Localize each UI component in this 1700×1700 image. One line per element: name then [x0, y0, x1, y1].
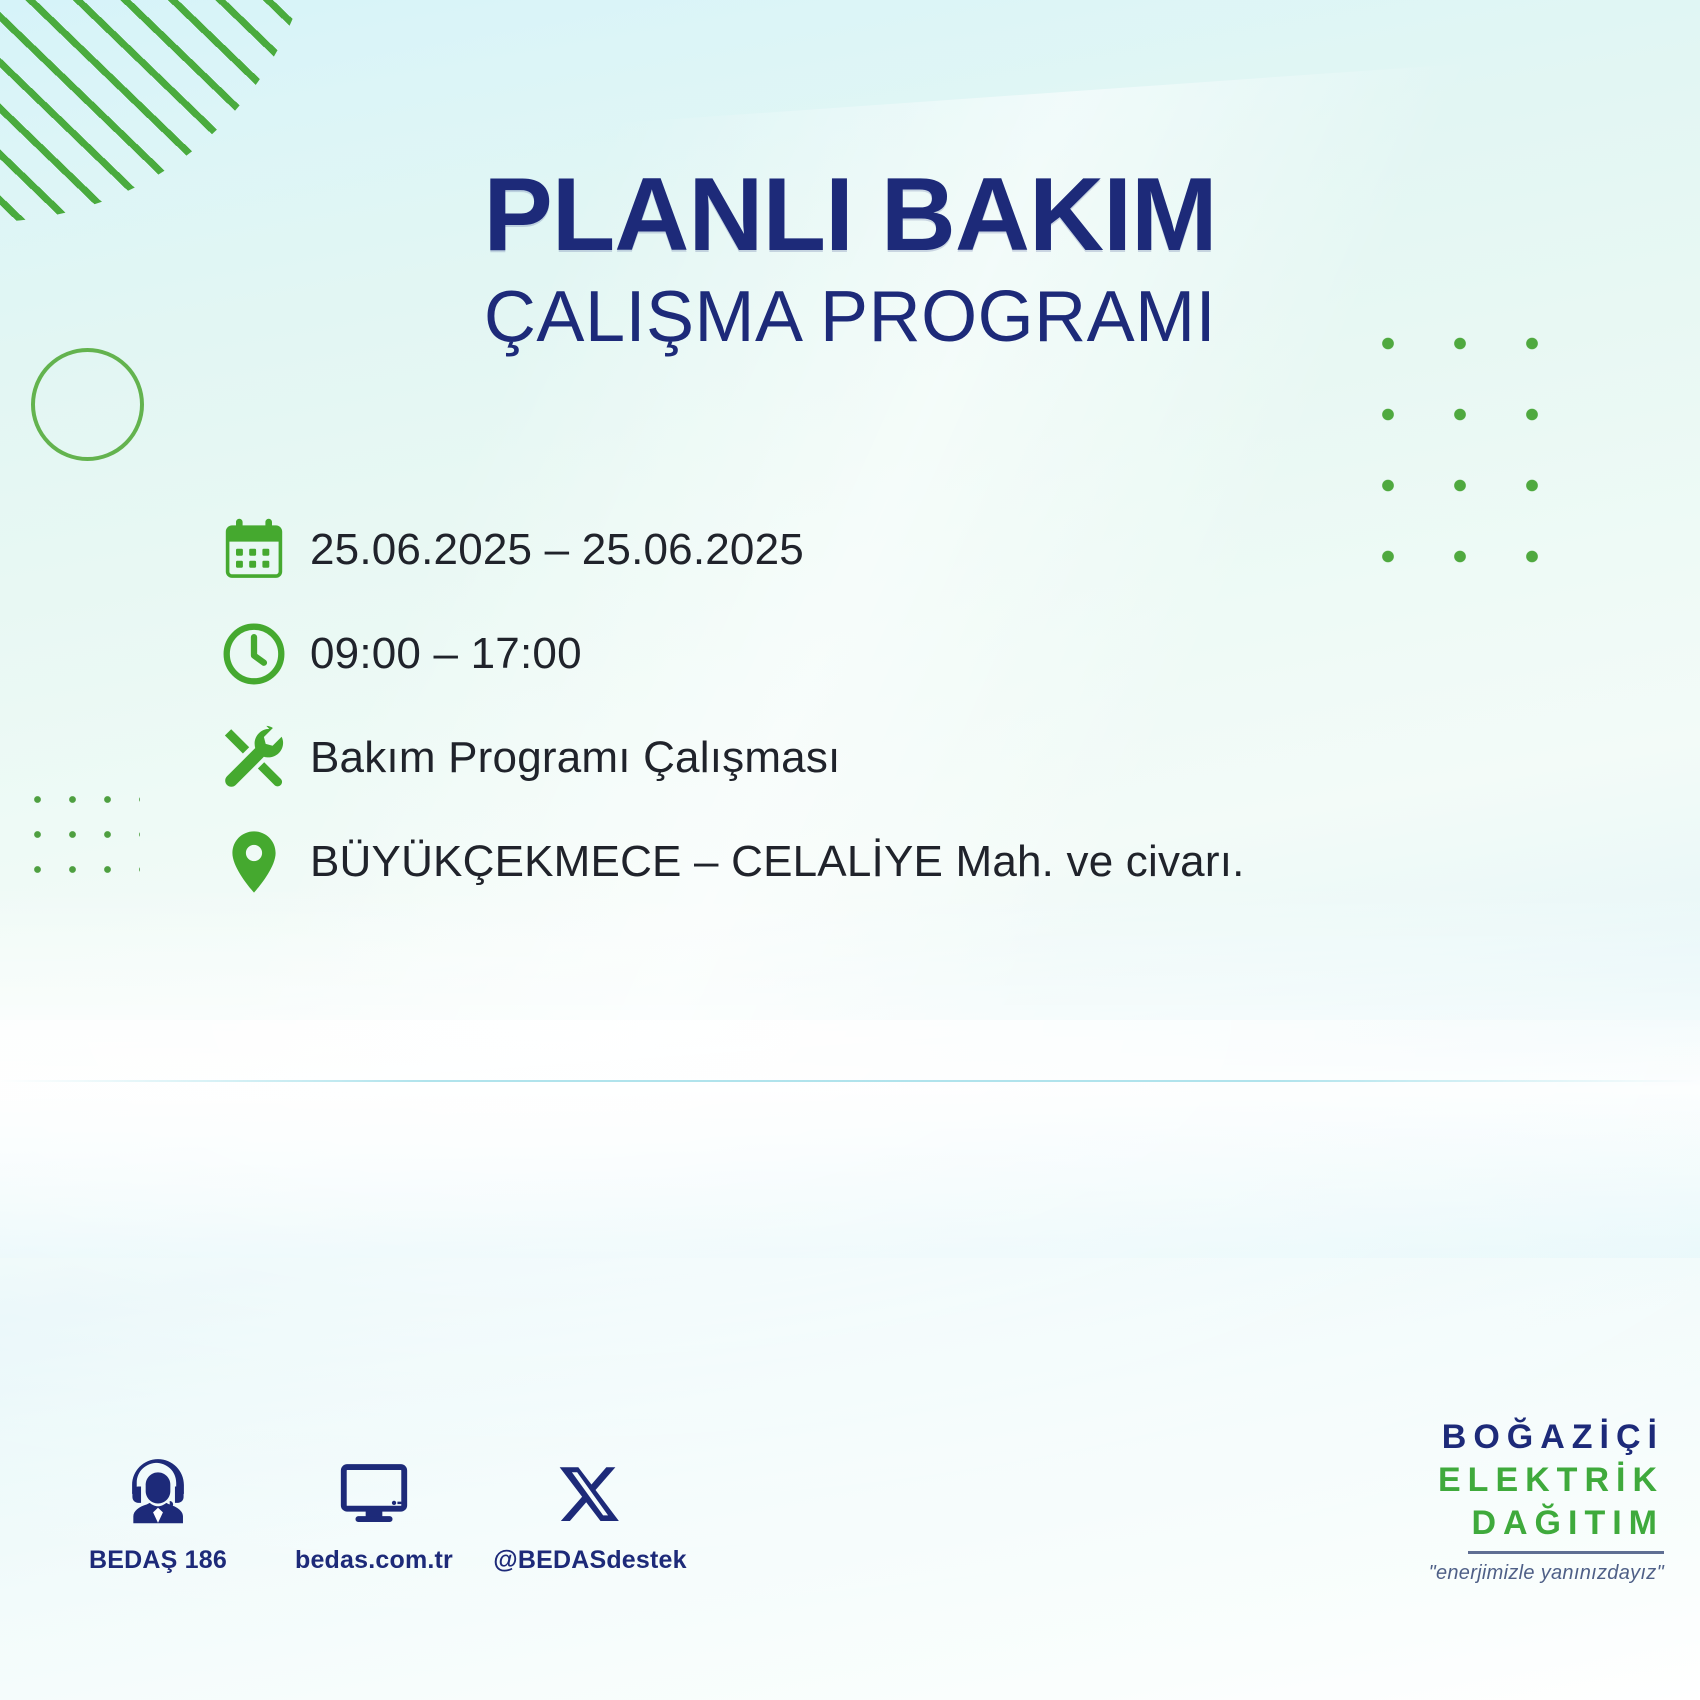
x-twitter-icon [555, 1452, 625, 1530]
contact-social-label: @BEDASdestek [493, 1546, 687, 1575]
clock-icon [218, 618, 310, 690]
page-title-block: PLANLI BAKIM ÇALIŞMA PROGRAMI [0, 160, 1700, 358]
brand-line-elektrik: ELEKTRİK [1429, 1463, 1664, 1497]
background-horizon-line [0, 1080, 1700, 1082]
contact-website-label: bedas.com.tr [295, 1546, 453, 1575]
background-light-sweep-middle [0, 884, 1700, 1258]
calendar-icon [218, 514, 310, 586]
info-text-time: 09:00 – 17:00 [310, 629, 582, 679]
brand-divider [1468, 1551, 1664, 1554]
dot-grid-left-decoration [20, 782, 140, 894]
contact-phone[interactable]: BEDAŞ 186 [78, 1452, 238, 1575]
brand-line-dagitim: DAĞITIM [1429, 1506, 1664, 1540]
brand-logo: BOĞAZİÇİ ELEKTRİK DAĞITIM "enerjimizle y… [1429, 1420, 1664, 1583]
poster-canvas: PLANLI BAKIM ÇALIŞMA PROGRAMI 25.0 [0, 0, 1700, 1700]
contact-website[interactable]: bedas.com.tr [294, 1452, 454, 1575]
info-row-worktype: Bakım Programı Çalışması [218, 706, 1518, 810]
support-headset-icon [121, 1452, 195, 1530]
brand-line-bogazici: BOĞAZİÇİ [1429, 1420, 1664, 1454]
tools-icon [218, 722, 310, 794]
monitor-icon [337, 1452, 411, 1530]
info-text-date: 25.06.2025 – 25.06.2025 [310, 525, 804, 575]
location-pin-icon [218, 826, 310, 898]
page-subtitle: ÇALIŞMA PROGRAMI [0, 276, 1700, 358]
info-row-date: 25.06.2025 – 25.06.2025 [218, 498, 1518, 602]
contact-social[interactable]: @BEDASdestek [510, 1452, 670, 1575]
info-row-location: BÜYÜKÇEKMECE – CELALİYE Mah. ve civarı. [218, 810, 1518, 914]
info-list: 25.06.2025 – 25.06.2025 09:00 – 17:00 Ba… [218, 498, 1518, 914]
footer-contacts: BEDAŞ 186 bedas.com.tr @BEDASdestek [78, 1452, 670, 1575]
background-light-sweep-bottom [0, 1020, 1700, 1700]
brand-tagline: "enerjimizle yanınızdayız" [1429, 1563, 1664, 1583]
info-text-worktype: Bakım Programı Çalışması [310, 733, 840, 783]
contact-phone-label: BEDAŞ 186 [89, 1546, 227, 1575]
circle-outline-decoration [31, 348, 144, 461]
info-text-location: BÜYÜKÇEKMECE – CELALİYE Mah. ve civarı. [310, 837, 1245, 887]
page-title: PLANLI BAKIM [0, 160, 1700, 270]
info-row-time: 09:00 – 17:00 [218, 602, 1518, 706]
